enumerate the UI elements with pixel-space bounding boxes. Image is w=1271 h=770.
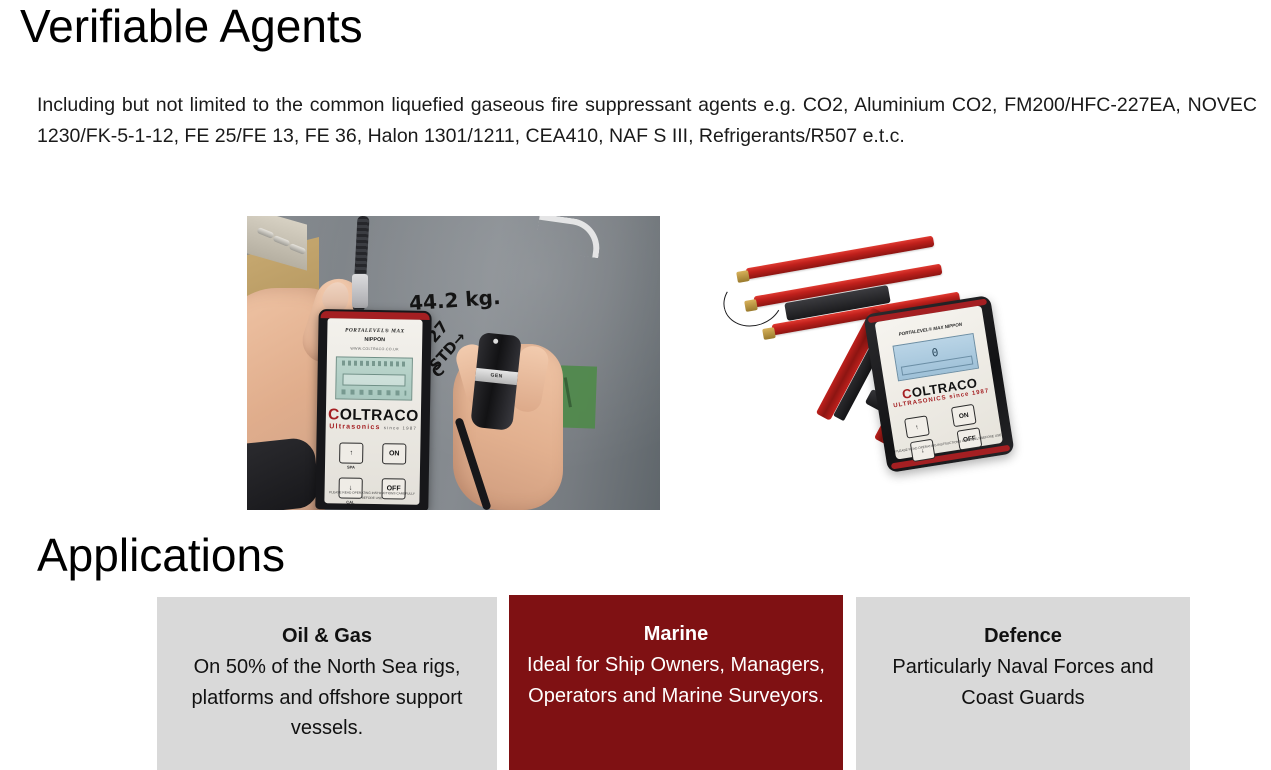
card-title: Defence — [870, 621, 1176, 651]
card-body: Ideal for Ship Owners, Managers, Operato… — [523, 650, 829, 711]
slide-root: Verifiable Agents Including but not limi… — [0, 0, 1271, 770]
application-cards: Oil & Gas On 50% of the North Sea rigs, … — [0, 0, 1271, 770]
card-body: On 50% of the North Sea rigs, platforms … — [171, 652, 483, 744]
application-card-marine[interactable]: Marine Ideal for Ship Owners, Managers, … — [509, 595, 843, 770]
card-body: Particularly Naval Forces and Coast Guar… — [870, 652, 1176, 713]
application-card-oil-gas[interactable]: Oil & Gas On 50% of the North Sea rigs, … — [157, 597, 497, 770]
card-title: Oil & Gas — [171, 621, 483, 651]
card-title: Marine — [523, 619, 829, 649]
application-card-defence[interactable]: Defence Particularly Naval Forces and Co… — [856, 597, 1190, 770]
